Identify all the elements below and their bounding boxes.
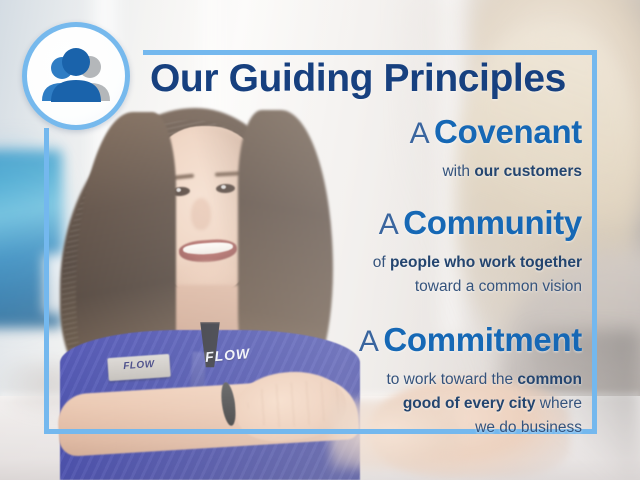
people-group-icon xyxy=(22,22,130,130)
detail-text-bold: common xyxy=(517,371,582,388)
principle-covenant: A Covenant with our customers xyxy=(150,112,582,183)
principle-headline: A Commitment xyxy=(150,320,582,367)
frame-right-line xyxy=(592,50,597,434)
frame-left-line xyxy=(44,128,49,434)
principle-headline: A Community xyxy=(150,203,582,250)
principle-article: A xyxy=(410,117,430,150)
detail-text: with xyxy=(442,163,474,180)
principle-detail-line: with our customers xyxy=(150,161,582,183)
page-title: Our Guiding Principles xyxy=(150,56,582,102)
principle-commitment: A Commitment to work toward the common g… xyxy=(150,320,582,439)
principle-community: A Community of people who work together … xyxy=(150,203,582,298)
detail-text: of xyxy=(373,254,390,271)
principle-detail-line: to work toward the common xyxy=(150,369,582,391)
principle-detail-line: toward a common vision xyxy=(150,276,582,298)
text-content: Our Guiding Principles A Covenant with o… xyxy=(150,56,582,448)
principle-detail-line: we do business xyxy=(150,417,582,439)
principle-keyword: Covenant xyxy=(434,113,582,150)
principle-detail-line: of people who work together xyxy=(150,252,582,274)
detail-text: to work toward the xyxy=(386,371,517,388)
principle-keyword: Community xyxy=(403,204,582,241)
detail-text-bold: good of every city xyxy=(403,395,536,412)
frame-top-line xyxy=(143,50,597,55)
detail-text: where xyxy=(535,395,582,412)
detail-text-bold: people who work together xyxy=(390,254,582,271)
detail-text-bold: our customers xyxy=(474,163,582,180)
principle-keyword: Commitment xyxy=(383,321,582,358)
principle-detail-line: good of every city where xyxy=(150,393,582,415)
principle-article: A xyxy=(379,208,399,241)
principle-article: A xyxy=(359,325,379,358)
principle-headline: A Covenant xyxy=(150,112,582,159)
guiding-principles-graphic: FLOW FLOW Our Guiding Principles A xyxy=(0,0,640,480)
